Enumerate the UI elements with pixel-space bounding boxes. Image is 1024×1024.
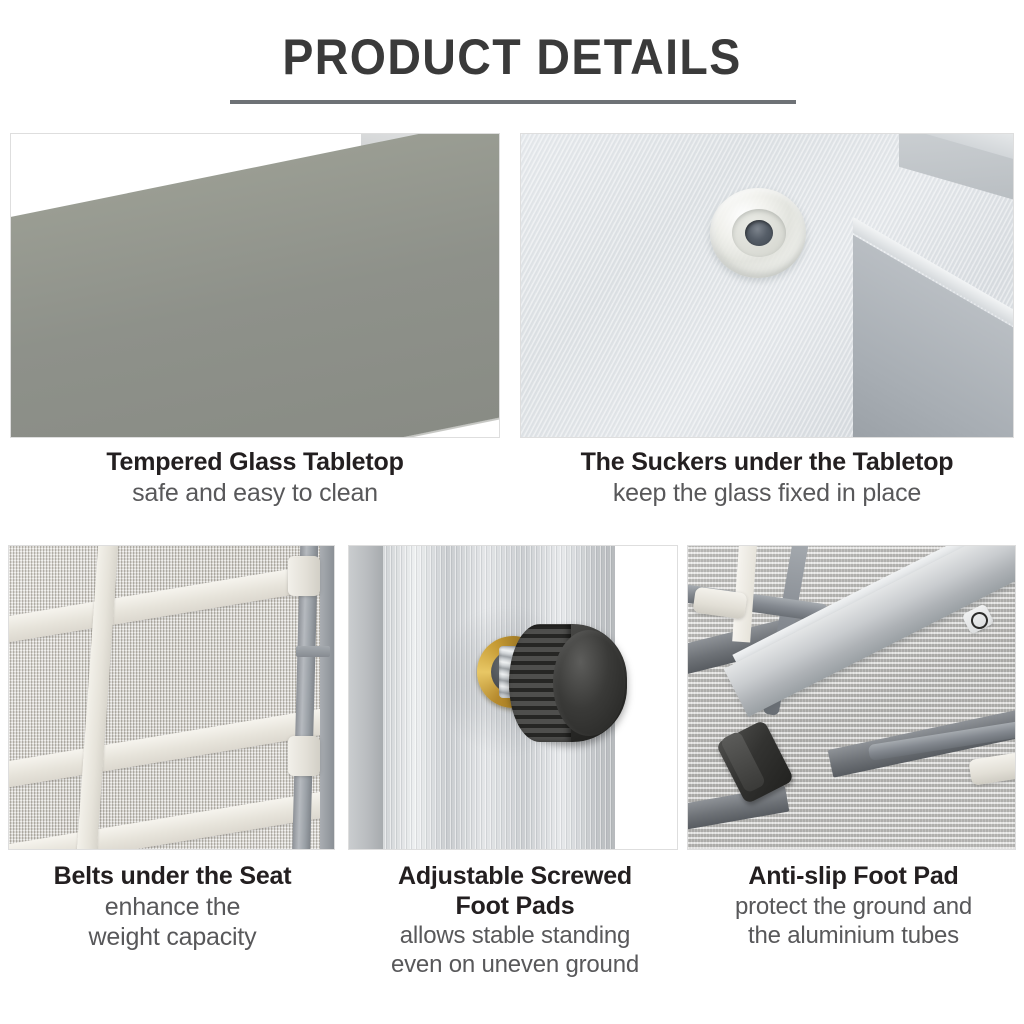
caption-subtext-line: allows stable standing <box>345 921 685 950</box>
glass-surface <box>10 133 500 438</box>
panel-belts-under-seat <box>8 545 335 850</box>
caption-subtext-line: keep the glass fixed in place <box>520 478 1014 509</box>
caption-adjustable-screwed-foot-pads: Adjustable Screwed Foot Pads allows stab… <box>345 862 685 980</box>
rubber-sucker <box>710 188 806 278</box>
frame-edge <box>320 545 334 850</box>
caption-subtext-line: weight capacity <box>0 922 345 953</box>
adjustable-foot-knob <box>509 624 627 742</box>
caption-heading: The Suckers under the Tabletop <box>520 448 1014 478</box>
panel-anti-slip-foot-pad <box>687 545 1016 850</box>
product-details-infographic: PRODUCT DETAILS <box>0 0 1024 1024</box>
caption-belts-under-seat: Belts under the Seat enhance the weight … <box>0 862 345 953</box>
caption-subtext-line: the aluminium tubes <box>683 921 1024 950</box>
caption-subtext-line: enhance the <box>0 892 345 923</box>
caption-subtext-line: safe and easy to clean <box>10 478 500 509</box>
caption-subtext-line: protect the ground and <box>683 892 1024 921</box>
glass-tabletop-photo <box>11 134 499 437</box>
panel-suckers-under-tabletop <box>520 133 1014 438</box>
white-collar <box>288 556 320 596</box>
leg-side-face <box>348 545 383 850</box>
panel-tempered-glass-tabletop <box>10 133 500 438</box>
caption-anti-slip-foot-pad: Anti-slip Foot Pad protect the ground an… <box>683 862 1024 950</box>
tube-connector <box>296 646 330 657</box>
title-divider <box>230 100 796 104</box>
white-collar <box>288 736 320 776</box>
caption-heading: Belts under the Seat <box>0 862 345 892</box>
caption-heading: Tempered Glass Tabletop <box>10 448 500 478</box>
page-title: PRODUCT DETAILS <box>36 28 988 86</box>
panel-adjustable-screwed-foot-pads <box>348 545 678 850</box>
caption-suckers-under-tabletop: The Suckers under the Tabletop keep the … <box>520 448 1014 508</box>
caption-heading-line: Adjustable Screwed <box>345 862 685 892</box>
caption-heading: Anti-slip Foot Pad <box>683 862 1024 892</box>
header: PRODUCT DETAILS <box>0 0 1024 125</box>
sucker-centre-hole <box>745 220 773 246</box>
caption-subtext-line: even on uneven ground <box>345 950 685 979</box>
knob-face <box>553 630 625 736</box>
caption-heading-line: Foot Pads <box>345 892 685 922</box>
caption-tempered-glass-tabletop: Tempered Glass Tabletop safe and easy to… <box>10 448 500 508</box>
